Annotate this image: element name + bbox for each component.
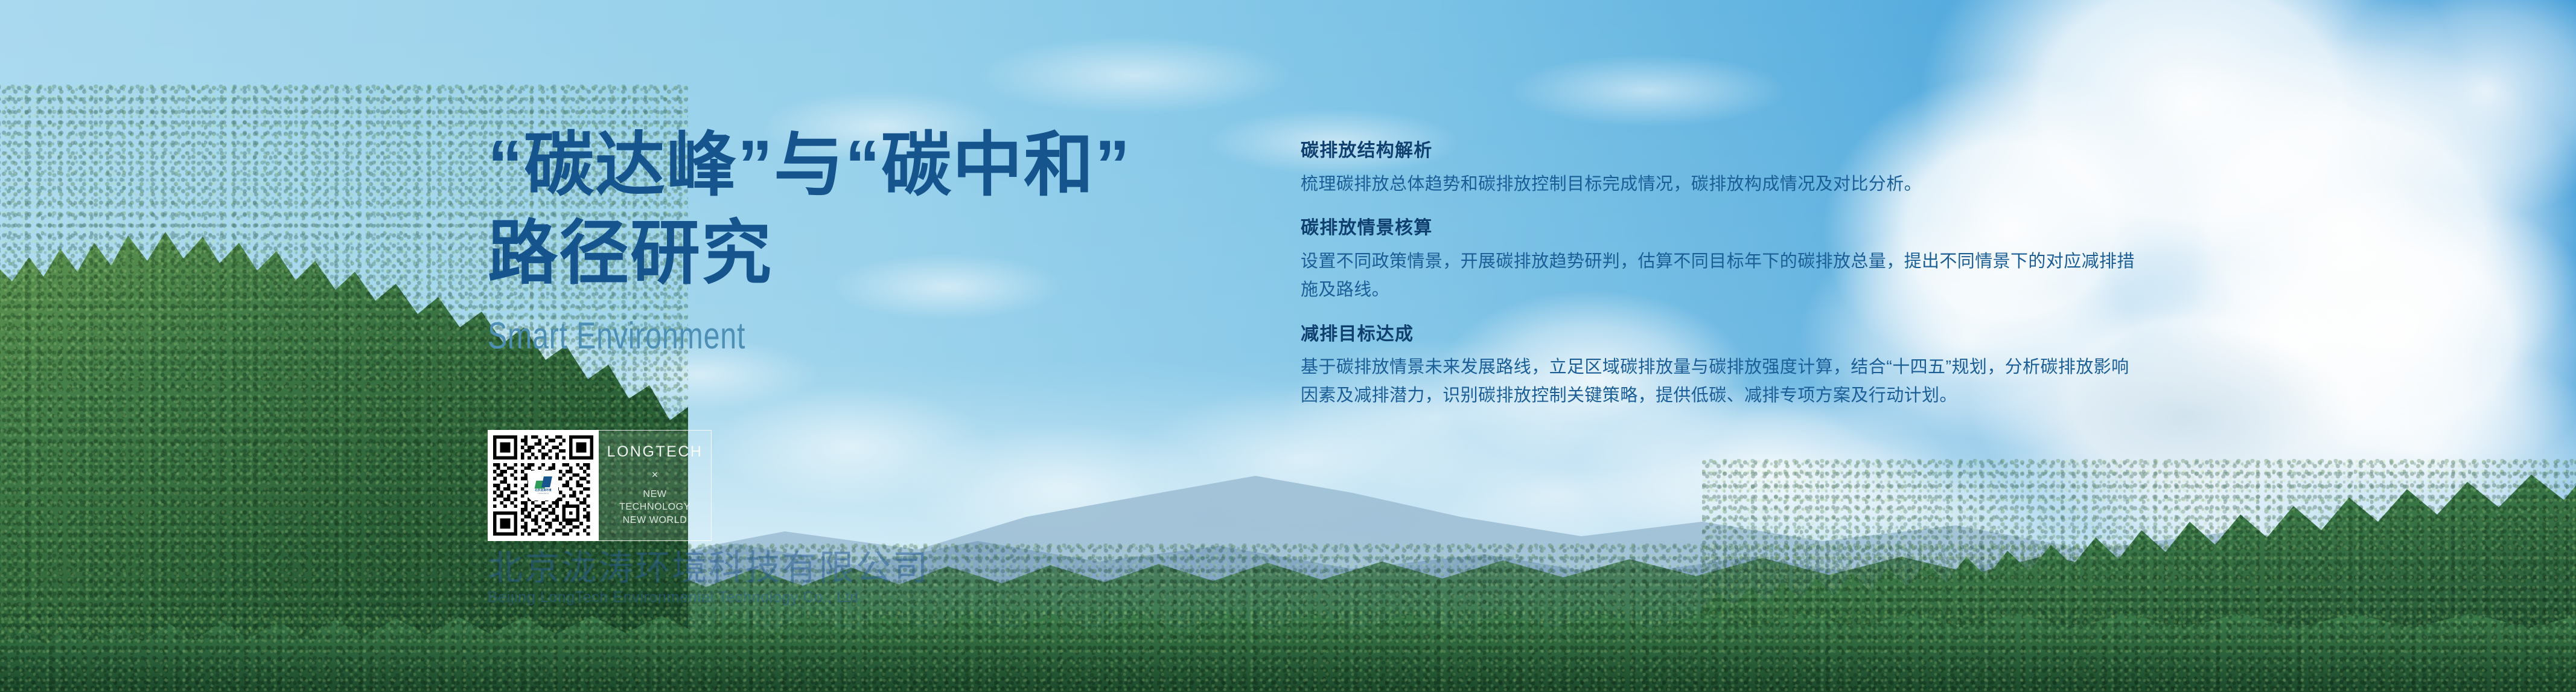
info-heading: 碳排放情景核算 [1301, 216, 2146, 241]
qr-logo-en-text: LONGTECH [538, 493, 549, 495]
page-title-line1: “碳达峰”与“碳中和” [488, 121, 1131, 209]
forest-foreground [0, 610, 2576, 692]
carbon-peak-neutrality-banner: “碳达峰”与“碳中和” 路径研究 Smart Environment 碳排放结构… [0, 0, 2576, 692]
brand-block: 北京泷涛环境 LONGTECH LONGTECH × NEW TECHNOLOG… [488, 430, 712, 541]
info-heading: 碳排放结构解析 [1301, 139, 2146, 164]
brand-name: LONGTECH [607, 444, 703, 460]
brand-separator-icon: × [652, 469, 658, 480]
qr-code[interactable]: 北京泷涛环境 LONGTECH [488, 430, 599, 541]
brand-tagline: NEW TECHNOLOGY NEW WORLD [619, 488, 690, 526]
info-column: 碳排放结构解析 梳理碳排放总体趋势和碳排放控制目标完成情况，碳排放构成情况及对比… [1301, 139, 2146, 410]
info-block-reduction-target: 减排目标达成 基于碳排放情景未来发展路线，立足区域碳排放量与碳排放强度计算，结合… [1301, 322, 2146, 410]
brand-card: LONGTECH × NEW TECHNOLOGY NEW WORLD [599, 430, 712, 541]
page-title-line2: 路径研究 [488, 209, 1131, 297]
page-subtitle: Smart Environment [488, 318, 989, 355]
info-body: 设置不同政策情景，开展碳排放趋势研判，估算不同目标年下的碳排放总量，提出不同情景… [1301, 248, 2146, 304]
info-heading: 减排目标达成 [1301, 322, 2146, 347]
title-block: “碳达峰”与“碳中和” 路径研究 Smart Environment [488, 121, 1131, 355]
info-block-scenario-accounting: 碳排放情景核算 设置不同政策情景，开展碳排放趋势研判，估算不同目标年下的碳排放总… [1301, 216, 2146, 304]
info-body: 基于碳排放情景未来发展路线，立足区域碳排放量与碳排放强度计算，结合“十四五”规划… [1301, 353, 2146, 410]
info-body: 梳理碳排放总体趋势和碳排放控制目标完成情况，碳排放构成情况及对比分析。 [1301, 170, 2146, 199]
qr-center-logo: 北京泷涛环境 LONGTECH [529, 472, 557, 499]
longtech-logo-icon [535, 476, 551, 489]
info-block-emission-structure: 碳排放结构解析 梳理碳排放总体趋势和碳排放控制目标完成情况，碳排放构成情况及对比… [1301, 139, 2146, 198]
